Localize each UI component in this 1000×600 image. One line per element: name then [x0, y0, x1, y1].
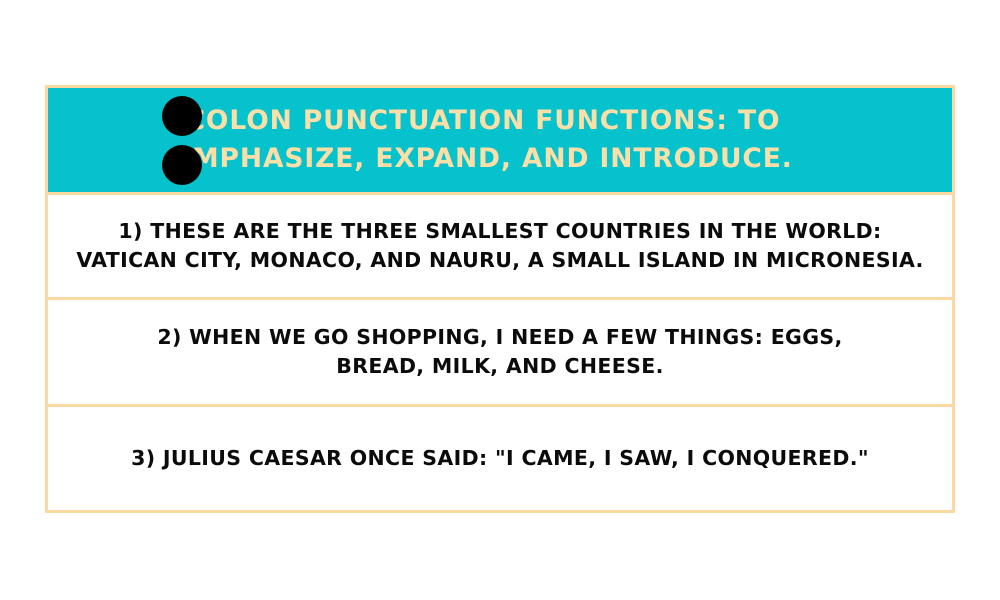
example-row: 2) When we go shopping, I need a few thi… [48, 297, 952, 404]
example-row: 3) Julius Caesar once said: "I came, I s… [48, 404, 952, 510]
example-sentence-3: 3) Julius Caesar once said: "I came, I s… [131, 444, 869, 473]
example-sentence-1: 1) These are the three smallest countrie… [76, 217, 924, 275]
infographic-canvas: Colon punctuation functions: to emphasiz… [0, 0, 1000, 600]
example-sentence-2: 2) When we go shopping, I need a few thi… [115, 323, 885, 381]
colon-functions-card: Colon punctuation functions: to emphasiz… [45, 85, 955, 513]
colon-punctuation-icon [161, 95, 203, 185]
example-row: 1) These are the three smallest countrie… [48, 192, 952, 297]
colon-bottom-dot [162, 145, 202, 185]
card-header-band: Colon punctuation functions: to emphasiz… [48, 88, 952, 192]
colon-top-dot [162, 96, 202, 136]
